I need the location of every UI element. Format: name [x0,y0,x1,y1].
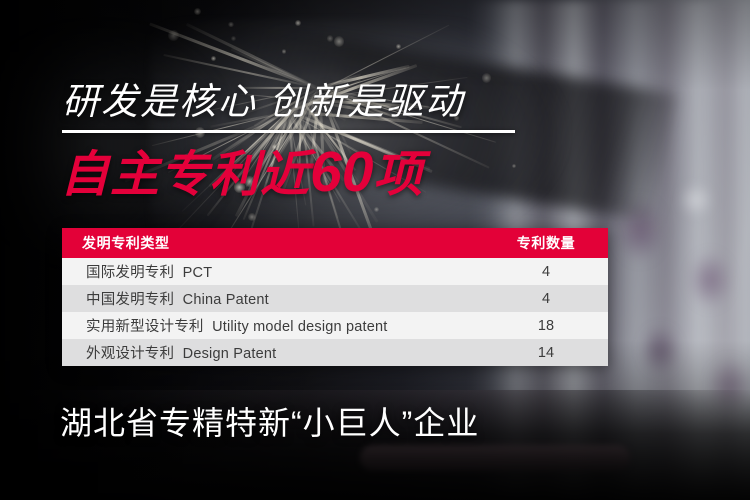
patent-type-cn: 中国发明专利 [86,292,174,308]
table-cell-count: 14 [484,345,608,361]
patent-type-en: Design Patent [174,346,276,362]
table-header-type: 发明专利类型 [62,233,484,253]
table-cell-count: 4 [484,291,608,307]
table-cell-type: 外观设计专利 Design Patent [62,342,484,363]
table-row: 国际发明专利 PCT4 [62,258,608,285]
table-cell-type: 国际发明专利 PCT [62,261,484,282]
headline-secondary-suffix: 项 [373,148,423,202]
patent-type-en: China Patent [174,292,269,308]
headline-divider-rule [62,130,515,133]
headline-secondary: 自主专利近60项 [60,143,423,203]
footer-caption: 湖北省专精特新“小巨人”企业 [60,398,479,444]
table-cell-count: 4 [484,264,608,280]
patent-table: 发明专利类型 专利数量 国际发明专利 PCT4中国发明专利 China Pate… [62,228,608,366]
headline-primary: 研发是核心 创新是驱动 [62,82,464,122]
patent-type-cn: 实用新型设计专利 [86,319,204,335]
table-cell-count: 18 [484,318,608,334]
table-cell-type: 实用新型设计专利 Utility model design patent [62,315,484,336]
promo-poster: 研发是核心 创新是驱动 自主专利近60项 发明专利类型 专利数量 国际发明专利 … [0,0,750,500]
table-row: 实用新型设计专利 Utility model design patent18 [62,312,608,339]
table-header-count: 专利数量 [484,233,608,253]
table-header-row: 发明专利类型 专利数量 [62,228,608,258]
headline-secondary-prefix: 自主专利近 [60,148,310,202]
headline-secondary-number: 60 [310,140,373,204]
table-cell-type: 中国发明专利 China Patent [62,288,484,309]
patent-type-cn: 国际发明专利 [86,265,174,281]
poster-content: 研发是核心 创新是驱动 自主专利近60项 发明专利类型 专利数量 国际发明专利 … [0,0,750,500]
table-row: 中国发明专利 China Patent4 [62,285,608,312]
patent-type-en: Utility model design patent [204,319,388,335]
patent-type-cn: 外观设计专利 [86,346,174,362]
table-row: 外观设计专利 Design Patent14 [62,339,608,366]
table-body: 国际发明专利 PCT4中国发明专利 China Patent4实用新型设计专利 … [62,258,608,366]
patent-type-en: PCT [174,265,212,281]
